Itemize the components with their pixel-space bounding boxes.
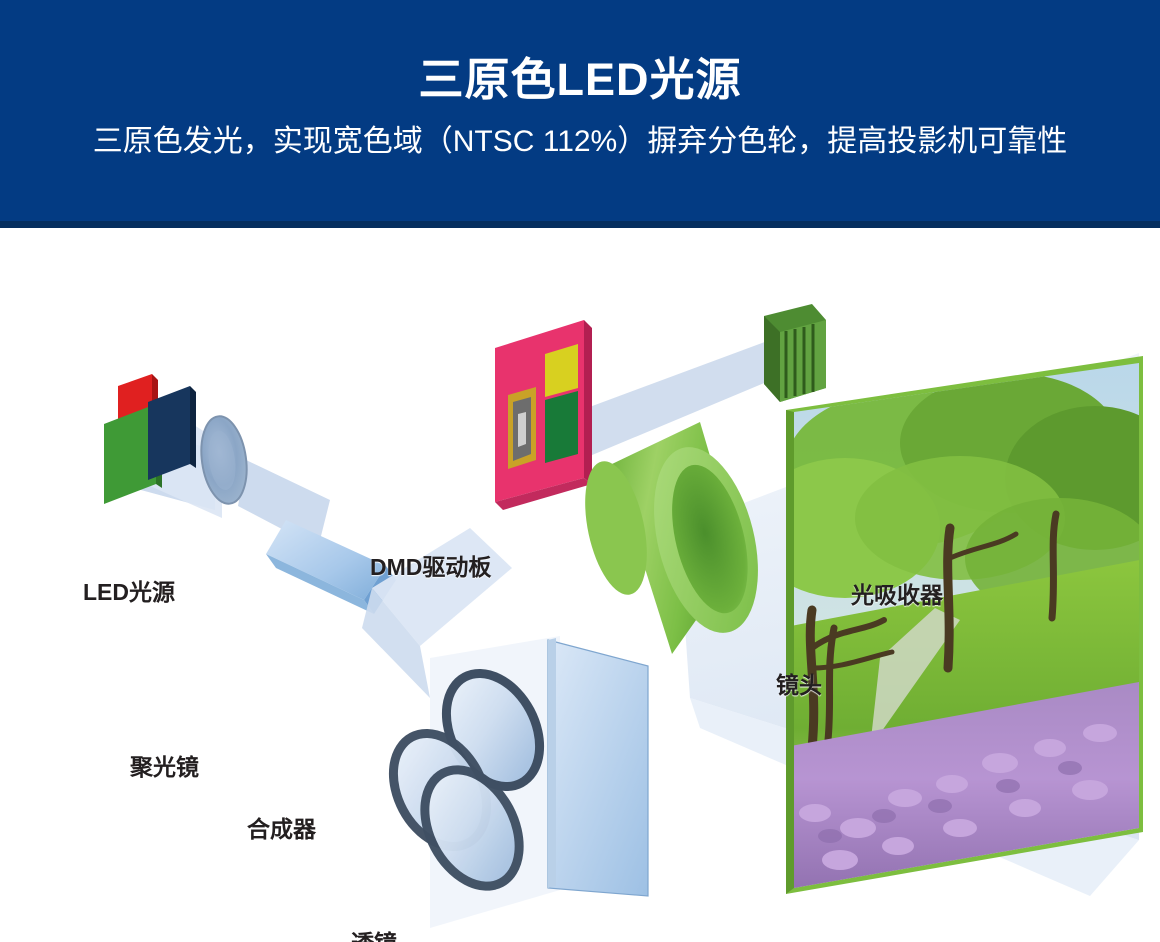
page-subtitle: 三原色发光，实现宽色域（NTSC 112%）摒弃分色轮，提高投影机可靠性 <box>0 124 1160 160</box>
label-objective-lens: 镜头 <box>776 666 822 700</box>
screen-image <box>750 348 1160 908</box>
label-light-absorber: 光吸收器 <box>851 576 943 610</box>
objective-lens-barrel <box>574 422 775 654</box>
header-banner: 三原色LED光源 三原色发光，实现宽色域（NTSC 112%）摒弃分色轮，提高投… <box>0 0 1160 228</box>
label-lens-group: 透镜 <box>351 924 397 942</box>
dmd-driver-board <box>495 320 592 510</box>
page-title: 三原色LED光源 <box>0 55 1160 105</box>
label-combiner: 合成器 <box>247 810 316 844</box>
label-dmd-board: DMD驱动板 <box>370 548 491 582</box>
optical-path-diagram: LED光源 聚光镜 合成器 透镜 DMD驱动板 折射镜 光吸收器 镜头 <box>0 228 1160 942</box>
led-panel-blue <box>148 386 190 480</box>
light-absorber <box>764 304 826 402</box>
label-condenser: 聚光镜 <box>130 748 199 782</box>
projection-screen <box>750 348 1160 908</box>
label-led-source: LED光源 <box>83 573 175 607</box>
